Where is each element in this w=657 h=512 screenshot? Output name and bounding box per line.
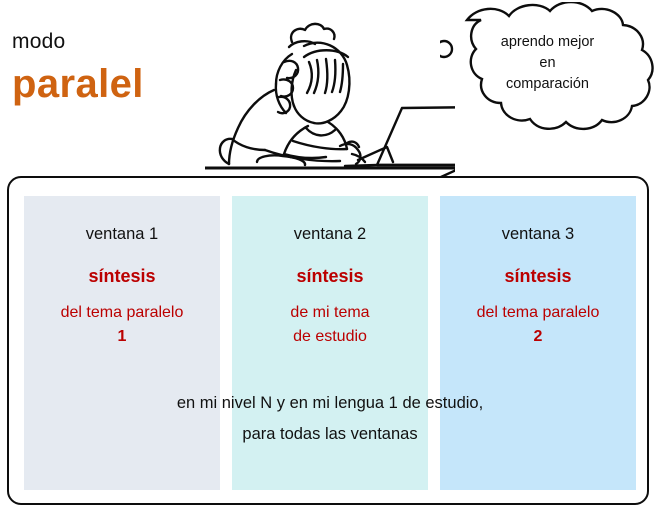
bubble-line-1: aprendo mejor bbox=[460, 32, 635, 53]
synthesis-desc-2: de mi tema de estudio bbox=[232, 301, 428, 349]
mode-name-title: paralel bbox=[12, 62, 144, 107]
mode-label: modo bbox=[12, 30, 65, 54]
synthesis-desc-3: del tema paralelo 2 bbox=[440, 301, 636, 349]
synthesis-desc-1: del tema paralelo 1 bbox=[24, 301, 220, 349]
window-label-1: ventana 1 bbox=[24, 224, 220, 244]
synthesis-title-1: síntesis bbox=[24, 265, 220, 287]
synthesis-desc-1-line-1: del tema paralelo bbox=[24, 301, 220, 325]
window-label-2: ventana 2 bbox=[232, 224, 428, 244]
window-column-3: ventana 3 síntesis del tema paralelo 2 bbox=[440, 196, 636, 490]
window-column-2: ventana 2 síntesis de mi tema de estudio bbox=[232, 196, 428, 490]
bubble-line-2: en bbox=[460, 53, 635, 74]
windows-columns: ventana 1 síntesis del tema paralelo 1 v… bbox=[24, 196, 636, 490]
bubble-line-3: comparación bbox=[460, 74, 635, 95]
synthesis-desc-2-line-2: de estudio bbox=[232, 325, 428, 349]
synthesis-desc-3-line-1: del tema paralelo bbox=[440, 301, 636, 325]
person-studying-at-laptop-icon bbox=[205, 2, 455, 177]
thought-bubble-text: aprendo mejor en comparación bbox=[460, 32, 635, 95]
header: modo paralel bbox=[0, 0, 657, 175]
synthesis-desc-2-line-1: de mi tema bbox=[232, 301, 428, 325]
parallel-mode-panel: ventana 1 síntesis del tema paralelo 1 v… bbox=[7, 176, 649, 505]
synthesis-desc-3-line-2: 2 bbox=[440, 325, 636, 349]
synthesis-title-2: síntesis bbox=[232, 265, 428, 287]
window-column-1: ventana 1 síntesis del tema paralelo 1 bbox=[24, 196, 220, 490]
window-label-3: ventana 3 bbox=[440, 224, 636, 244]
synthesis-title-3: síntesis bbox=[440, 265, 636, 287]
synthesis-desc-1-line-2: 1 bbox=[24, 325, 220, 349]
